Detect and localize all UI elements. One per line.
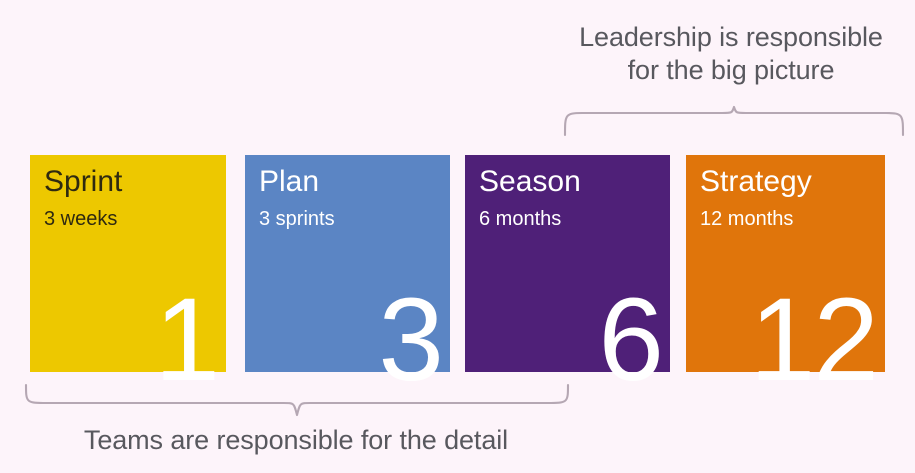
tile-strategy[interactable]: Strategy 12 months 12 xyxy=(686,155,885,372)
leadership-caption: Leadership is responsible for the big pi… xyxy=(545,21,915,87)
tile-season-number: 6 xyxy=(598,281,662,399)
tile-strategy-subtitle: 12 months xyxy=(700,207,793,231)
tile-season-subtitle: 6 months xyxy=(479,207,561,231)
planning-horizons-diagram: Leadership is responsible for the big pi… xyxy=(0,0,915,473)
tile-sprint-title: Sprint xyxy=(44,164,122,200)
tile-season-title: Season xyxy=(479,164,581,200)
teams-caption: Teams are responsible for the detail xyxy=(20,424,572,457)
tile-strategy-number: 12 xyxy=(750,281,877,399)
curly-brace-up-icon xyxy=(18,379,576,423)
tile-plan-subtitle: 3 sprints xyxy=(259,207,335,231)
curly-brace-down-icon xyxy=(560,105,908,139)
tile-plan[interactable]: Plan 3 sprints 3 xyxy=(245,155,450,372)
tile-plan-title: Plan xyxy=(259,164,319,200)
tile-sprint-subtitle: 3 weeks xyxy=(44,207,117,231)
tile-sprint[interactable]: Sprint 3 weeks 1 xyxy=(30,155,226,372)
tile-strategy-title: Strategy xyxy=(700,164,812,200)
tile-season[interactable]: Season 6 months 6 xyxy=(465,155,670,372)
